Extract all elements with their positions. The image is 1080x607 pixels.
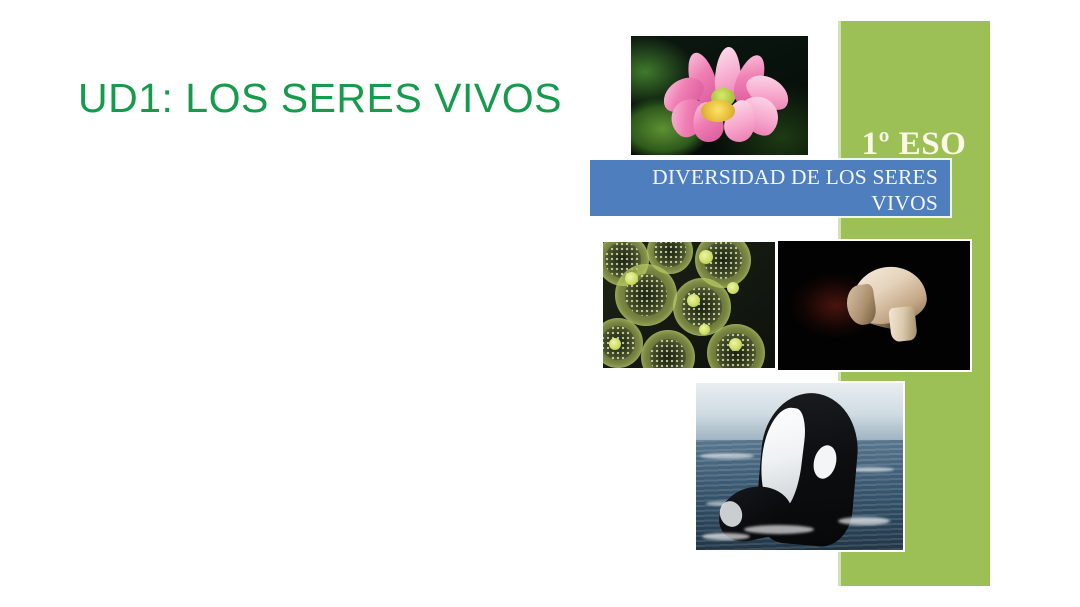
algae-daughter-cell: [687, 294, 700, 307]
algae-colony: [615, 264, 677, 326]
algae-daughter-cell: [699, 324, 710, 335]
subtitle-banner: DIVERSIDAD DE LOS SERES VIVOS: [590, 160, 950, 216]
presentation-slide: UD1: LOS SERES VIVOS 1º ESO DIVERSIDAD D…: [0, 0, 1080, 607]
algae-daughter-cell: [727, 282, 739, 294]
grade-label: 1º ESO: [838, 126, 990, 163]
algae-daughter-cell: [729, 338, 742, 351]
water-splash: [744, 525, 814, 534]
mushroom-photo: [778, 241, 970, 370]
water-splash: [838, 517, 890, 525]
algae-daughter-cell: [609, 338, 621, 350]
lotus-flower-photo: [631, 36, 808, 155]
mushroom-stem: [888, 306, 917, 343]
lotus-stamens: [701, 100, 735, 122]
algae-daughter-cell: [699, 250, 713, 264]
volvox-algae-photo: [603, 242, 775, 368]
cover-collage: 1º ESO DIVERSIDAD DE LOS SERES VIVOS: [590, 20, 990, 586]
wave-foam: [700, 453, 754, 459]
orca-whale-photo: [696, 383, 903, 550]
banner-text: DIVERSIDAD DE LOS SERES VIVOS: [608, 164, 938, 216]
algae-daughter-cell: [625, 272, 638, 285]
page-title: UD1: LOS SERES VIVOS: [78, 76, 538, 122]
water-splash: [702, 533, 750, 540]
